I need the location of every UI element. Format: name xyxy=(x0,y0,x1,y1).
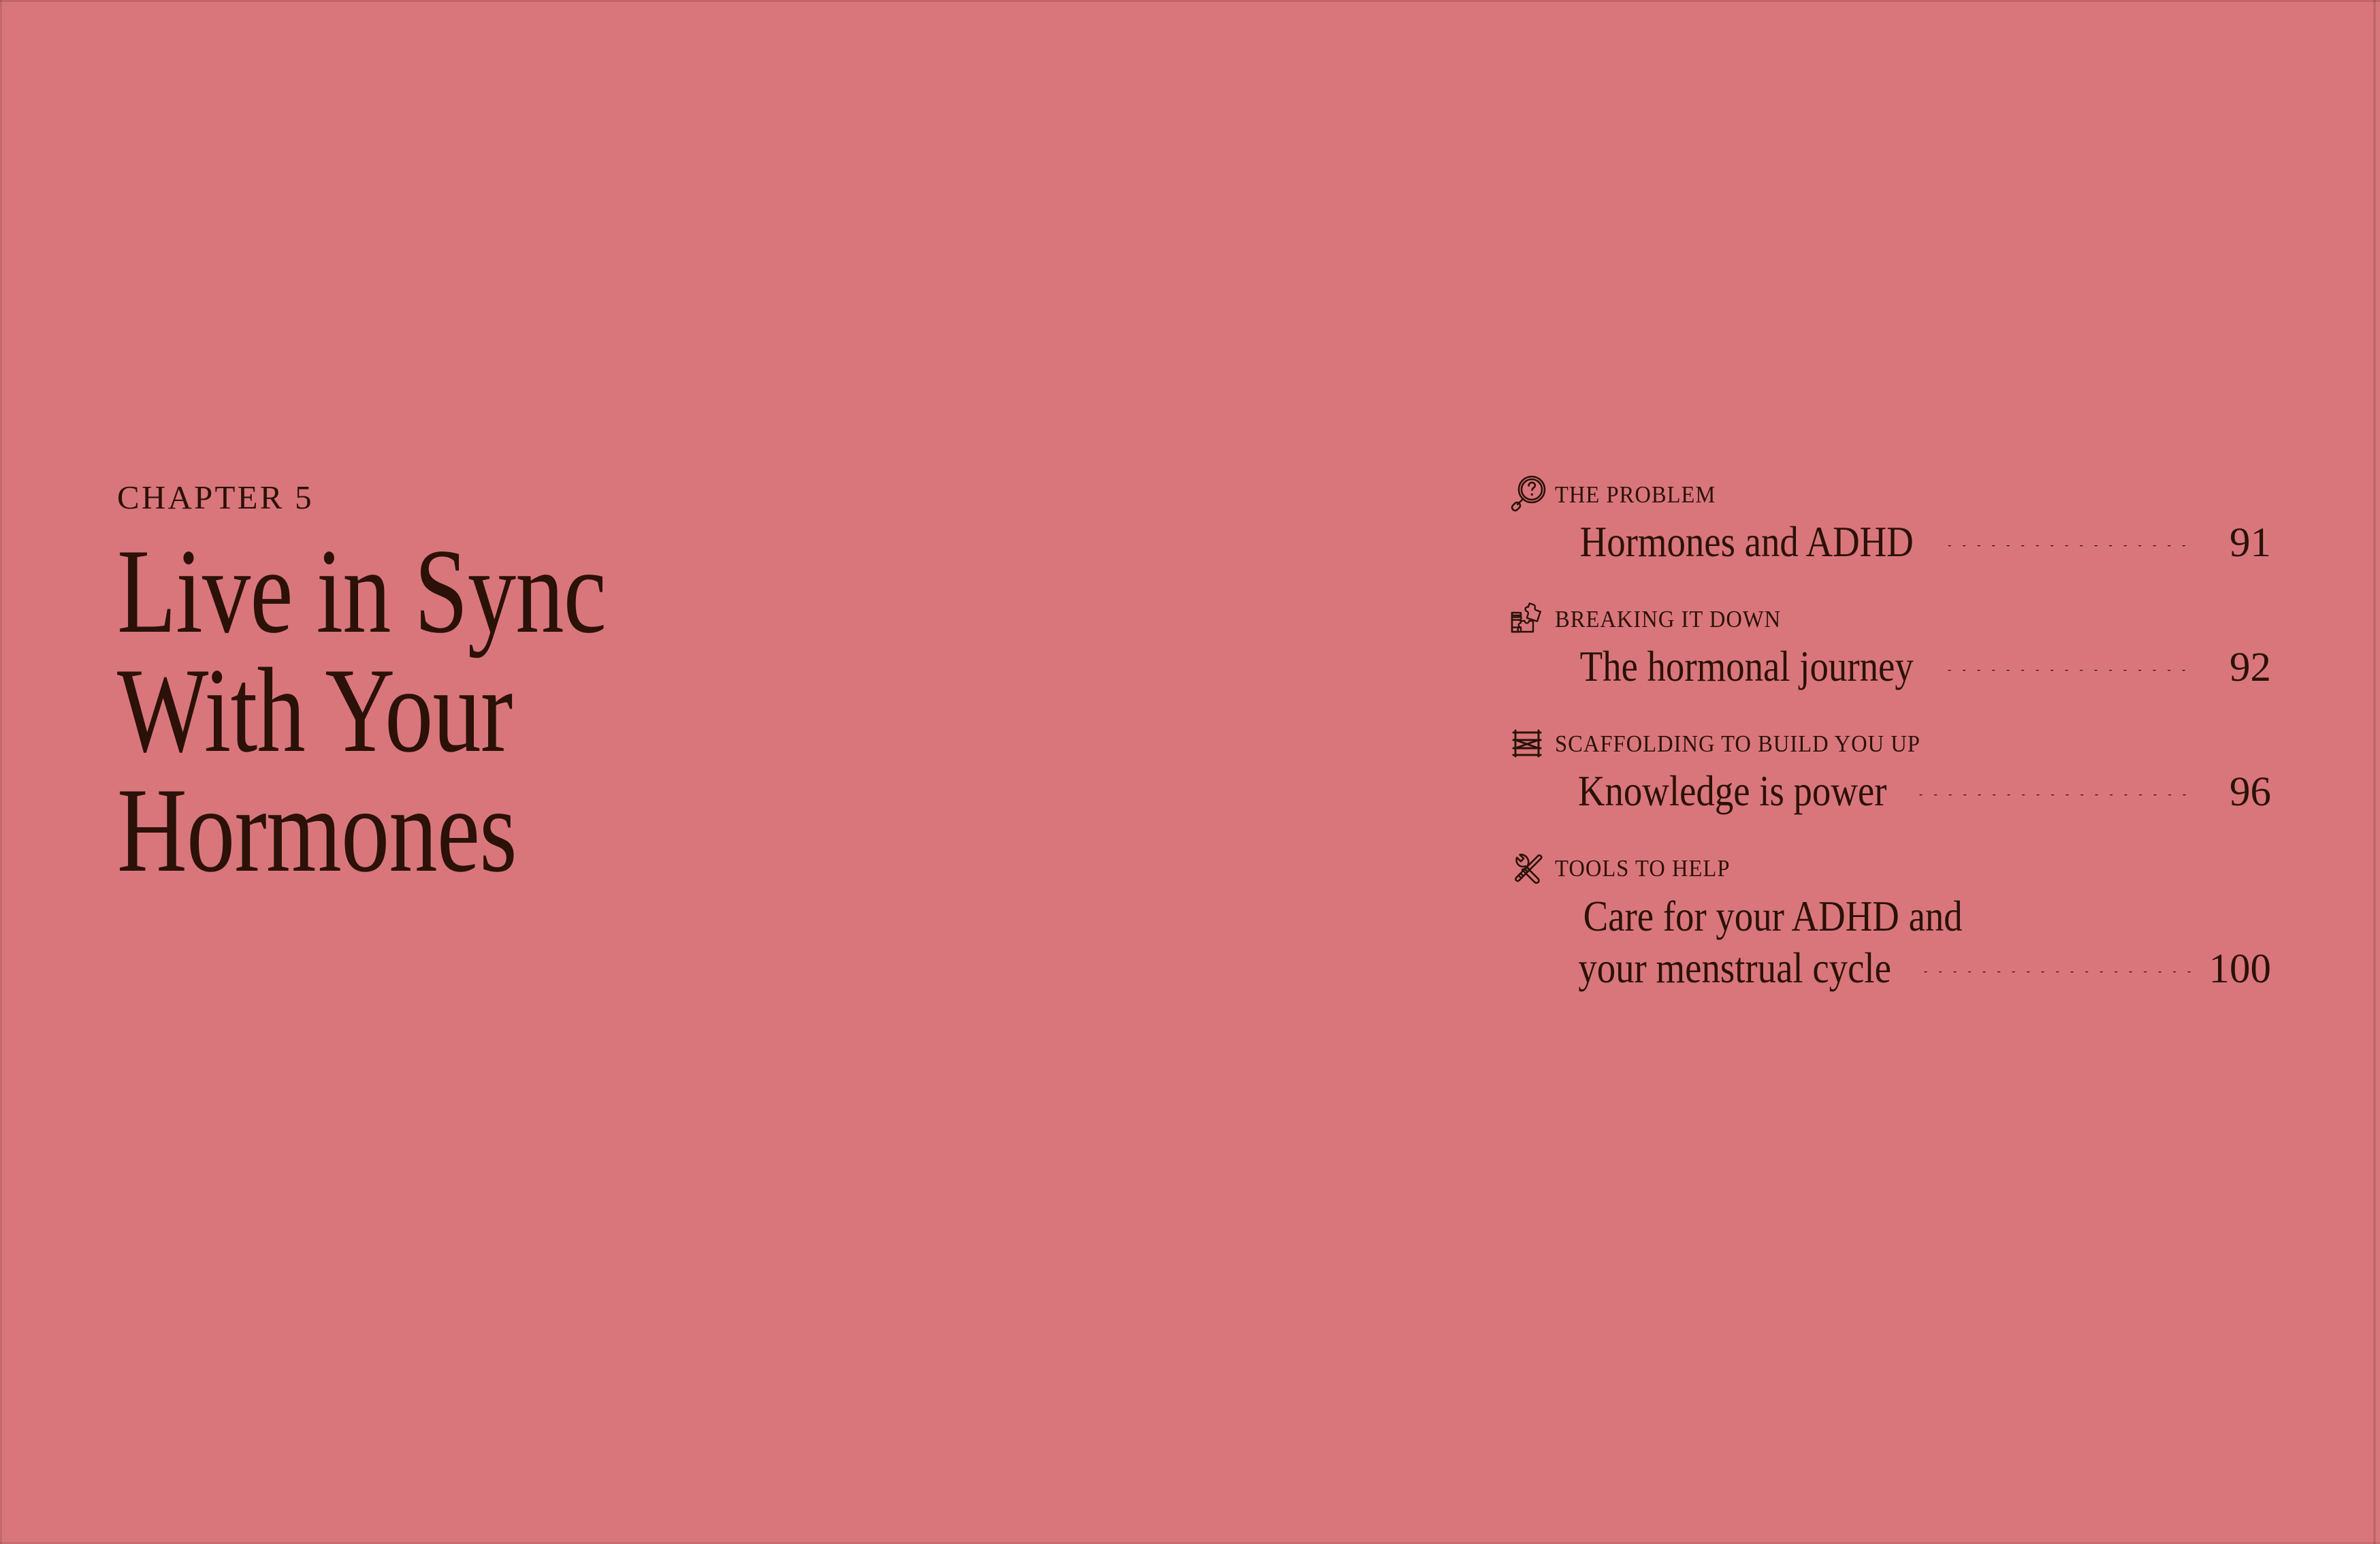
contents-entry-body: Hormones and ADHD 91 xyxy=(1555,516,2271,568)
contents-kicker: THE PROBLEM xyxy=(1555,483,1716,506)
contents-entry-line: The hormonal journey 92 xyxy=(1555,641,2271,692)
chapter-number-label: CHAPTER 5 xyxy=(117,481,1002,514)
page-number: 100 xyxy=(2198,948,2271,990)
page-edge-right xyxy=(2373,0,2376,1544)
contents-entry-body: Care for your ADHD and your menstrual cy… xyxy=(1555,890,2271,994)
page-edge-left xyxy=(0,0,2,1544)
contents-entry-body: Knowledge is power 96 xyxy=(1555,765,2271,817)
contents-entry-line: Hormones and ADHD 91 xyxy=(1555,516,2271,568)
contents-entry-line: your menstrual cycle 100 xyxy=(1555,942,2271,994)
chapter-opener-page: CHAPTER 5 Live in Sync With Your Hormone… xyxy=(0,0,2380,1544)
dot-leader xyxy=(1945,545,2195,556)
page-number: 91 xyxy=(2198,522,2271,564)
contents-kicker: BREAKING IT DOWN xyxy=(1555,607,1781,631)
dot-leader xyxy=(1921,971,2195,982)
contents-entry-header: SCAFFOLDING TO BUILD YOU UP xyxy=(1503,726,2271,761)
list-item[interactable]: SCAFFOLDING TO BUILD YOU UP Knowledge is… xyxy=(1503,726,2271,817)
contents-entry-title: The hormonal journey xyxy=(1580,641,1914,692)
tools-icon xyxy=(1503,851,1555,886)
contents-entry-line: Care for your ADHD and xyxy=(1555,890,2271,942)
contents-kicker: TOOLS TO HELP xyxy=(1555,856,1730,880)
contents-entry-title: Care for your ADHD and xyxy=(1583,890,1963,942)
puzzle-pieces-icon xyxy=(1503,601,1555,637)
contents-entry-header: THE PROBLEM xyxy=(1503,477,2271,512)
list-item[interactable]: THE PROBLEM Hormones and ADHD 91 xyxy=(1503,477,2271,568)
list-item[interactable]: BREAKING IT DOWN The hormonal journey 92 xyxy=(1503,601,2271,692)
contents-entry-title-continued: your menstrual cycle xyxy=(1578,942,1891,994)
list-item[interactable]: TOOLS TO HELP Care for your ADHD and you… xyxy=(1503,851,2271,994)
page-title: Live in Sync With Your Hormones xyxy=(117,532,825,890)
page-number: 96 xyxy=(2198,771,2271,813)
chapter-title-block: CHAPTER 5 Live in Sync With Your Hormone… xyxy=(117,481,1002,890)
contents-entry-header: TOOLS TO HELP xyxy=(1503,851,2271,886)
scaffolding-icon xyxy=(1503,726,1555,761)
page-number: 92 xyxy=(2198,647,2271,688)
chapter-contents-list: THE PROBLEM Hormones and ADHD 91 xyxy=(1503,477,2271,994)
contents-kicker: SCAFFOLDING TO BUILD YOU UP xyxy=(1555,732,1920,756)
contents-entry-body: The hormonal journey 92 xyxy=(1555,641,2271,692)
contents-entry-header: BREAKING IT DOWN xyxy=(1503,601,2271,637)
dot-leader xyxy=(1916,794,2195,805)
contents-entry-title: Knowledge is power xyxy=(1578,765,1887,817)
magnifier-question-icon xyxy=(1503,477,1555,512)
contents-entry-line: Knowledge is power 96 xyxy=(1555,765,2271,817)
page-edge-top xyxy=(0,0,2380,2)
dot-leader xyxy=(1945,670,2195,681)
contents-entry-title: Hormones and ADHD xyxy=(1580,516,1914,568)
